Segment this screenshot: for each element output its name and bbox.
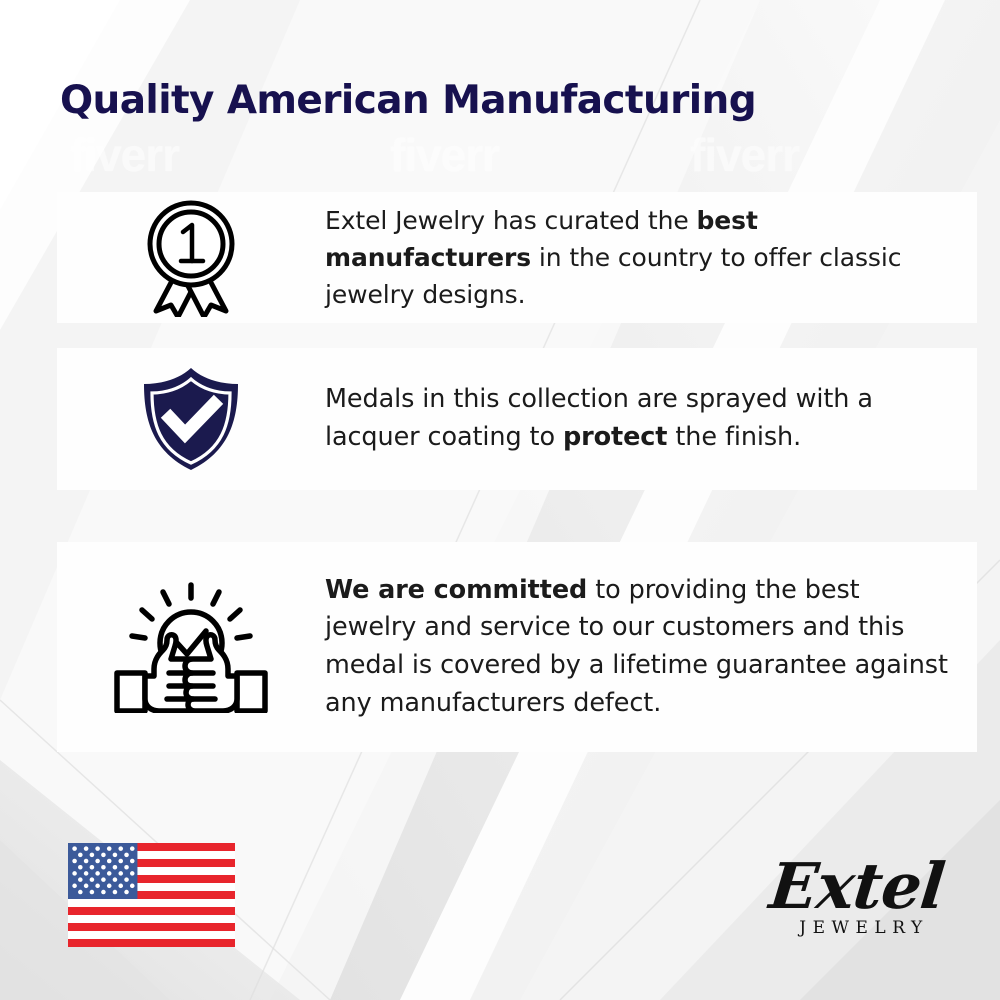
feature-text: Medals in this collection are sprayed wi… (325, 381, 977, 457)
thumbs-up-check-icon (107, 581, 275, 713)
icon-cell (57, 366, 325, 472)
feature-text: Extel Jewelry has curated the best manuf… (325, 202, 977, 314)
extel-jewelry-logo: Extel JEWELRY (764, 846, 950, 950)
feature-card-manufacturers: Extel Jewelry has curated the best manuf… (57, 192, 977, 323)
icon-cell (57, 581, 325, 713)
united-states-flag-icon (68, 843, 235, 947)
logo-script-text: Extel (767, 858, 947, 916)
page-title: Quality American Manufacturing (60, 78, 756, 123)
feature-card-protect: Medals in this collection are sprayed wi… (57, 348, 977, 490)
award-ribbon-icon (139, 199, 243, 317)
shield-check-icon (140, 366, 242, 472)
feature-text: We are committed to providing the best j… (325, 572, 977, 723)
feature-card-committed: We are committed to providing the best j… (57, 542, 977, 752)
icon-cell (57, 199, 325, 317)
infographic-page: Quality American Manufacturing (0, 0, 1000, 1000)
